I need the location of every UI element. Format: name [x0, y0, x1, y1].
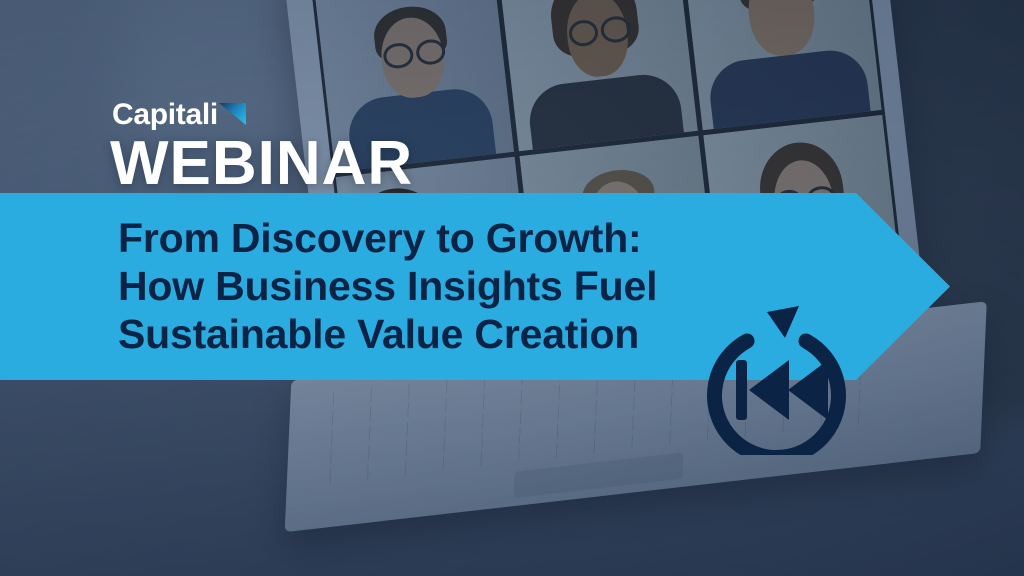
title-line-1: From Discovery to Growth:: [118, 215, 657, 263]
webinar-title: From Discovery to Growth: How Business I…: [118, 215, 657, 359]
brand-logo: Capitali: [112, 100, 246, 130]
brand-z-mark-icon: [219, 103, 246, 125]
eyebrow-label: WEBINAR: [110, 133, 413, 195]
webinar-banner-slide: Capitali WEBINAR From Discovery to Growt…: [0, 0, 1024, 576]
brand-name: Capitali: [112, 100, 218, 130]
title-line-2: How Business Insights Fuel: [118, 263, 657, 311]
title-line-3: Sustainable Value Creation: [118, 311, 657, 359]
replay-rewind-icon: [703, 300, 851, 455]
